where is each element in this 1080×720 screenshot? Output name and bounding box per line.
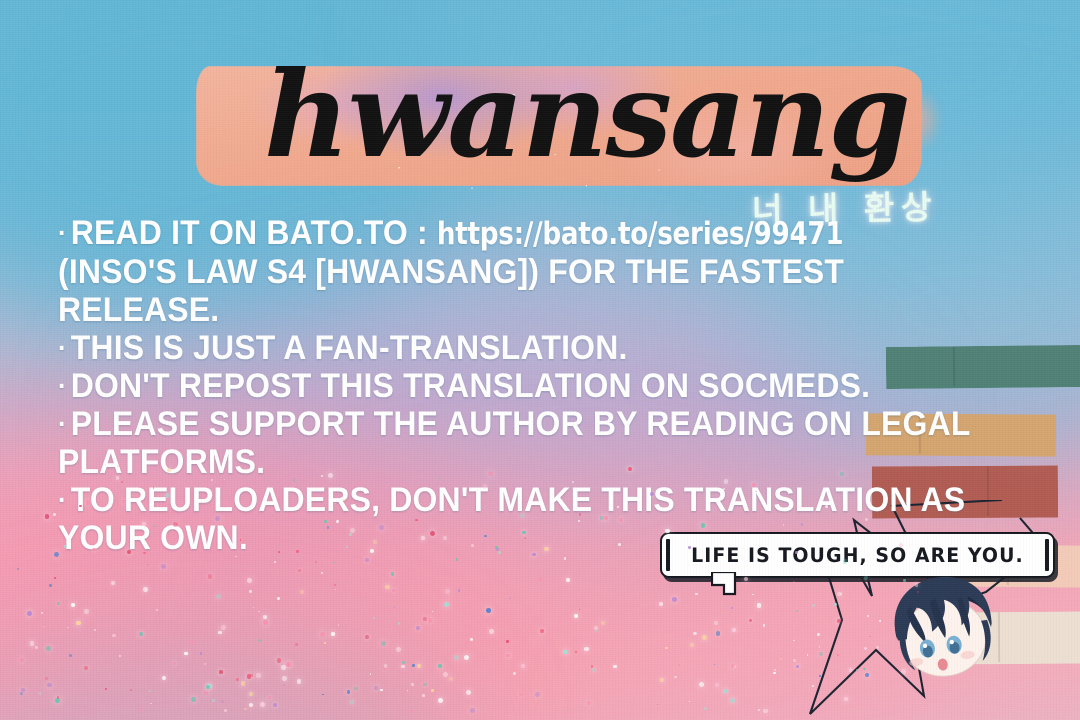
credit-line-4: ·DON'T REPOST THIS TRANSLATION ON SOCMED…: [58, 367, 989, 405]
confetti-dot: [247, 578, 252, 583]
confetti-dot: [253, 607, 254, 608]
confetti-dot: [84, 609, 89, 614]
confetti-dot: [221, 625, 226, 630]
confetti-dot: [162, 676, 166, 680]
confetti-dot: [282, 676, 287, 681]
bullet-6: ·: [58, 484, 67, 515]
bullet-5: ·: [58, 408, 67, 439]
confetti-dot: [94, 629, 96, 631]
confetti-dot: [250, 705, 253, 708]
confetti-dot: [672, 597, 677, 602]
confetti-dot: [584, 647, 589, 652]
confetti-dot: [244, 708, 246, 710]
confetti-dot: [35, 646, 38, 649]
confetti-dot: [509, 598, 511, 600]
confetti-dot: [380, 689, 383, 692]
confetti-dot: [410, 710, 413, 713]
credit-line-5-text: PLEASE SUPPORT THE AUTHOR BY READING ON …: [58, 405, 970, 481]
confetti-dot: [274, 561, 276, 563]
title-banner: hwansang 너 내 환상: [196, 44, 936, 204]
confetti-dot: [39, 692, 41, 694]
confetti-dot: [465, 641, 468, 644]
confetti-dot: [76, 621, 81, 626]
confetti-dot: [506, 640, 509, 643]
speech-bubble-tail: [711, 572, 745, 596]
confetti-dot: [780, 658, 781, 659]
confetti-dot: [350, 700, 354, 704]
confetti-dot: [161, 564, 166, 569]
confetti-dot: [256, 673, 261, 678]
confetti-dot: [149, 690, 151, 692]
confetti-dot: [392, 589, 395, 592]
confetti-dot: [381, 641, 386, 646]
confetti-dot: [374, 686, 378, 690]
confetti-dot: [519, 693, 523, 697]
confetti-dot: [796, 665, 799, 668]
confetti-dot: [733, 665, 736, 668]
confetti-dot: [20, 692, 23, 695]
confetti-dot: [67, 627, 69, 629]
confetti-dot: [730, 698, 735, 703]
confetti-dot: [659, 602, 663, 606]
confetti-dot: [23, 516, 25, 518]
confetti-dot: [594, 626, 598, 630]
confetti-dot: [422, 694, 425, 697]
confetti-dot: [373, 617, 375, 619]
confetti-dot: [156, 609, 158, 611]
confetti-dot: [453, 704, 454, 705]
confetti-dot: [191, 697, 196, 702]
confetti-dot: [716, 631, 720, 635]
confetti-dot: [365, 558, 370, 563]
confetti-dot: [731, 664, 735, 668]
confetti-dot: [54, 577, 57, 580]
credit-line-1: ·READ IT ON BATO.TO : https://bato.to/se…: [58, 214, 989, 253]
confetti-dot: [679, 664, 681, 666]
confetti-dot: [506, 654, 510, 658]
confetti-dot: [221, 700, 224, 703]
confetti-dot: [449, 677, 453, 681]
confetti-dot: [774, 669, 776, 671]
confetti-dot: [324, 642, 326, 644]
confetti-dot: [613, 665, 617, 669]
confetti-dot: [758, 709, 759, 710]
confetti-dot: [260, 702, 265, 707]
confetti-dot: [763, 709, 768, 714]
confetti-dot: [57, 696, 59, 698]
confetti-dot: [417, 664, 421, 668]
credits-text-block: ·READ IT ON BATO.TO : https://bato.to/se…: [58, 214, 1048, 557]
confetti-dot: [273, 703, 277, 707]
confetti-dot: [258, 639, 261, 642]
confetti-dot: [47, 683, 52, 688]
confetti-dot: [263, 620, 268, 625]
confetti-dot: [793, 659, 796, 662]
confetti-dot: [732, 628, 736, 632]
confetti-dot: [601, 621, 605, 625]
confetti-dot: [45, 677, 48, 680]
confetti-dot: [286, 662, 291, 667]
confetti-dot: [258, 611, 260, 613]
confetti-dot: [43, 626, 44, 627]
bullet-4: ·: [58, 370, 67, 401]
confetti-dot: [69, 654, 72, 657]
credit-line-3: ·THIS IS JUST A FAN-TRANSLATION.: [58, 329, 989, 367]
confetti-dot: [384, 664, 387, 667]
confetti-dot: [55, 698, 60, 703]
credit-line-2: (INSO'S LAW S4 [HWANSANG]) FOR THE FASTE…: [58, 253, 989, 329]
confetti-dot: [521, 664, 525, 668]
credit-line-2-text: (INSO'S LAW S4 [HWANSANG]) FOR THE FASTE…: [58, 253, 844, 329]
confetti-dot: [391, 572, 395, 576]
confetti-dot: [704, 707, 707, 710]
confetti-dot: [277, 597, 280, 600]
confetti-dot: [173, 662, 176, 665]
confetti-dot: [563, 650, 567, 654]
confetti-dot: [335, 589, 337, 591]
confetti-dot: [385, 585, 390, 590]
confetti-dot: [674, 676, 677, 679]
confetti-dot: [657, 704, 659, 706]
chibi-character-head: [877, 564, 1012, 696]
confetti-dot: [438, 664, 442, 668]
confetti-dot: [665, 647, 667, 649]
confetti-dot: [268, 696, 272, 700]
confetti-dot: [298, 569, 302, 573]
confetti-dot: [200, 652, 202, 654]
confetti-dot: [219, 670, 223, 674]
confetti-dot: [752, 594, 754, 596]
confetti-dot: [354, 687, 358, 691]
confetti-dot: [793, 581, 794, 582]
confetti-dot: [321, 572, 323, 574]
confetti-dot: [579, 609, 580, 610]
confetti-dot: [757, 603, 762, 608]
confetti-dot: [224, 709, 227, 712]
confetti-dot: [30, 641, 34, 645]
confetti-dot: [566, 578, 570, 582]
confetti-dot: [334, 584, 336, 586]
confetti-dot: [300, 590, 304, 594]
confetti-dot: [338, 624, 340, 626]
confetti-dot: [464, 655, 469, 660]
confetti-dot: [212, 699, 215, 702]
confetti-dot: [21, 688, 25, 692]
confetti-dot: [575, 651, 577, 653]
title-text: hwansang: [264, 45, 909, 184]
confetti-dot: [84, 666, 88, 670]
confetti-dot: [763, 624, 766, 627]
confetti-dot: [412, 664, 415, 667]
credit-line-1-text: READ IT ON BATO.TO :: [71, 214, 437, 252]
confetti-dot: [394, 607, 395, 608]
confetti-dot: [250, 674, 253, 677]
confetti-dot: [249, 703, 253, 707]
confetti-dot: [27, 611, 32, 616]
credit-line-3-text: THIS IS JUST A FAN-TRANSLATION.: [71, 329, 628, 367]
confetti-dot: [660, 678, 665, 683]
confetti-dot: [150, 703, 151, 704]
confetti-dot: [699, 682, 704, 687]
confetti-dot: [111, 581, 115, 585]
confetti-dot: [540, 629, 544, 633]
confetti-dot: [438, 698, 443, 703]
confetti-dot: [723, 689, 728, 694]
confetti-dot: [443, 672, 448, 677]
confetti-dot: [564, 557, 567, 560]
confetti-dot: [331, 632, 335, 636]
confetti-dot: [407, 690, 408, 691]
confetti-dot: [241, 681, 245, 685]
confetti-dot: [281, 665, 286, 670]
confetti-dot: [130, 689, 133, 692]
confetti-dot: [190, 641, 193, 644]
confetti-dot: [250, 693, 252, 695]
confetti-dot: [301, 679, 302, 680]
confetti-dot: [416, 626, 420, 630]
confetti-dot: [206, 685, 210, 689]
confetti-dot: [695, 593, 698, 596]
confetti-dot: [401, 665, 405, 669]
confetti-dot: [322, 694, 324, 696]
confetti-dot: [249, 692, 253, 696]
confetti-dot: [263, 615, 268, 620]
confetti-dot: [119, 655, 121, 657]
confetti-dot: [715, 683, 719, 687]
confetti-dot: [236, 678, 239, 681]
credit-line-4-text: DON'T REPOST THIS TRANSLATION ON SOCMEDS…: [71, 367, 871, 405]
confetti-dot: [57, 602, 61, 606]
confetti-dot: [320, 632, 325, 637]
confetti-dot: [458, 589, 460, 591]
confetti-dot: [46, 646, 51, 651]
bullet-3: ·: [58, 332, 67, 363]
confetti-dot: [347, 690, 351, 694]
confetti-dot: [283, 684, 285, 686]
confetti-dot: [247, 674, 251, 678]
confetti-dot: [796, 610, 798, 612]
confetti-dot: [333, 562, 335, 564]
confetti-dot: [773, 672, 776, 675]
confetti-dot: [204, 663, 206, 665]
confetti-dot: [535, 692, 540, 697]
confetti-dot: [53, 513, 55, 515]
confetti-dot: [143, 587, 148, 592]
confetti-dot: [411, 683, 414, 686]
confetti-dot: [402, 661, 405, 664]
confetti-dot: [539, 577, 542, 580]
confetti-dot: [749, 619, 752, 622]
confetti-dot: [105, 688, 108, 691]
confetti-dot: [702, 635, 707, 640]
confetti-dot: [207, 684, 212, 689]
confetti-dot: [431, 689, 434, 692]
confetti-dot: [139, 632, 143, 636]
confetti-dot: [370, 673, 372, 675]
confetti-dot: [71, 603, 75, 607]
bullet-1: ·: [58, 217, 67, 248]
confetti-dot: [147, 564, 148, 565]
confetti-dot: [49, 584, 52, 587]
confetti-dot: [184, 652, 188, 656]
confetti-dot: [365, 635, 369, 639]
confetti-dot: [596, 630, 598, 632]
confetti-dot: [470, 708, 475, 713]
confetti-dot: [383, 666, 387, 670]
confetti-dot: [432, 611, 433, 612]
bato-url-link[interactable]: https://bato.to/series/99471: [437, 216, 843, 252]
confetti-dot: [218, 631, 222, 635]
confetti-dot: [295, 643, 298, 646]
confetti-dot: [253, 636, 254, 637]
confetti-dot: [592, 668, 596, 672]
confetti-dot: [456, 558, 458, 560]
confetti-dot: [139, 708, 142, 711]
confetti-dot: [17, 568, 19, 570]
credit-line-5: ·PLEASE SUPPORT THE AUTHOR BY READING ON…: [58, 405, 989, 481]
confetti-dot: [423, 617, 427, 621]
confetti-dot: [731, 607, 733, 609]
confetti-dot: [216, 594, 221, 599]
credits-page: hwansang 너 내 환상 LIFE IS TOUGH, SO ARE YO…: [0, 0, 1080, 720]
confetti-dot: [396, 647, 401, 652]
confetti-dot: [470, 638, 473, 641]
confetti-dot: [793, 640, 794, 641]
confetti-dot: [403, 695, 404, 696]
confetti-dot: [398, 622, 400, 624]
title-script-logo: hwansang: [196, 44, 936, 204]
confetti-dot: [486, 608, 491, 613]
confetti-dot: [574, 614, 578, 618]
background-cloud-grey: [0, 620, 460, 720]
confetti-dot: [714, 664, 715, 665]
confetti-dot: [689, 701, 690, 702]
confetti-dot: [249, 590, 251, 592]
confetti-dot: [690, 643, 694, 647]
confetti-dot: [489, 629, 494, 634]
confetti-dot: [513, 672, 516, 675]
confetti-dot: [428, 618, 433, 623]
confetti-dot: [204, 691, 209, 696]
confetti-dot: [208, 574, 212, 578]
credit-line-6: ·TO REUPLOADERS, DON'T MAKE THIS TRANSLA…: [58, 481, 989, 557]
confetti-dot: [277, 658, 281, 662]
confetti-dot: [693, 632, 696, 635]
confetti-dot: [41, 612, 43, 614]
confetti-dot: [315, 561, 317, 563]
confetti-dot: [297, 679, 301, 683]
confetti-dot: [587, 701, 591, 705]
confetti-dot: [454, 655, 459, 660]
confetti-dot: [20, 658, 24, 662]
confetti-dot: [45, 514, 50, 519]
confetti-dot: [112, 634, 115, 637]
confetti-dot: [714, 621, 718, 625]
confetti-dot: [423, 683, 427, 687]
confetti-dot: [445, 589, 450, 594]
credit-line-6-text: TO REUPLOADERS, DON'T MAKE THIS TRANSLAT…: [58, 481, 965, 557]
confetti-dot: [444, 602, 449, 607]
confetti-dot: [591, 665, 594, 668]
confetti-dot: [466, 690, 471, 695]
